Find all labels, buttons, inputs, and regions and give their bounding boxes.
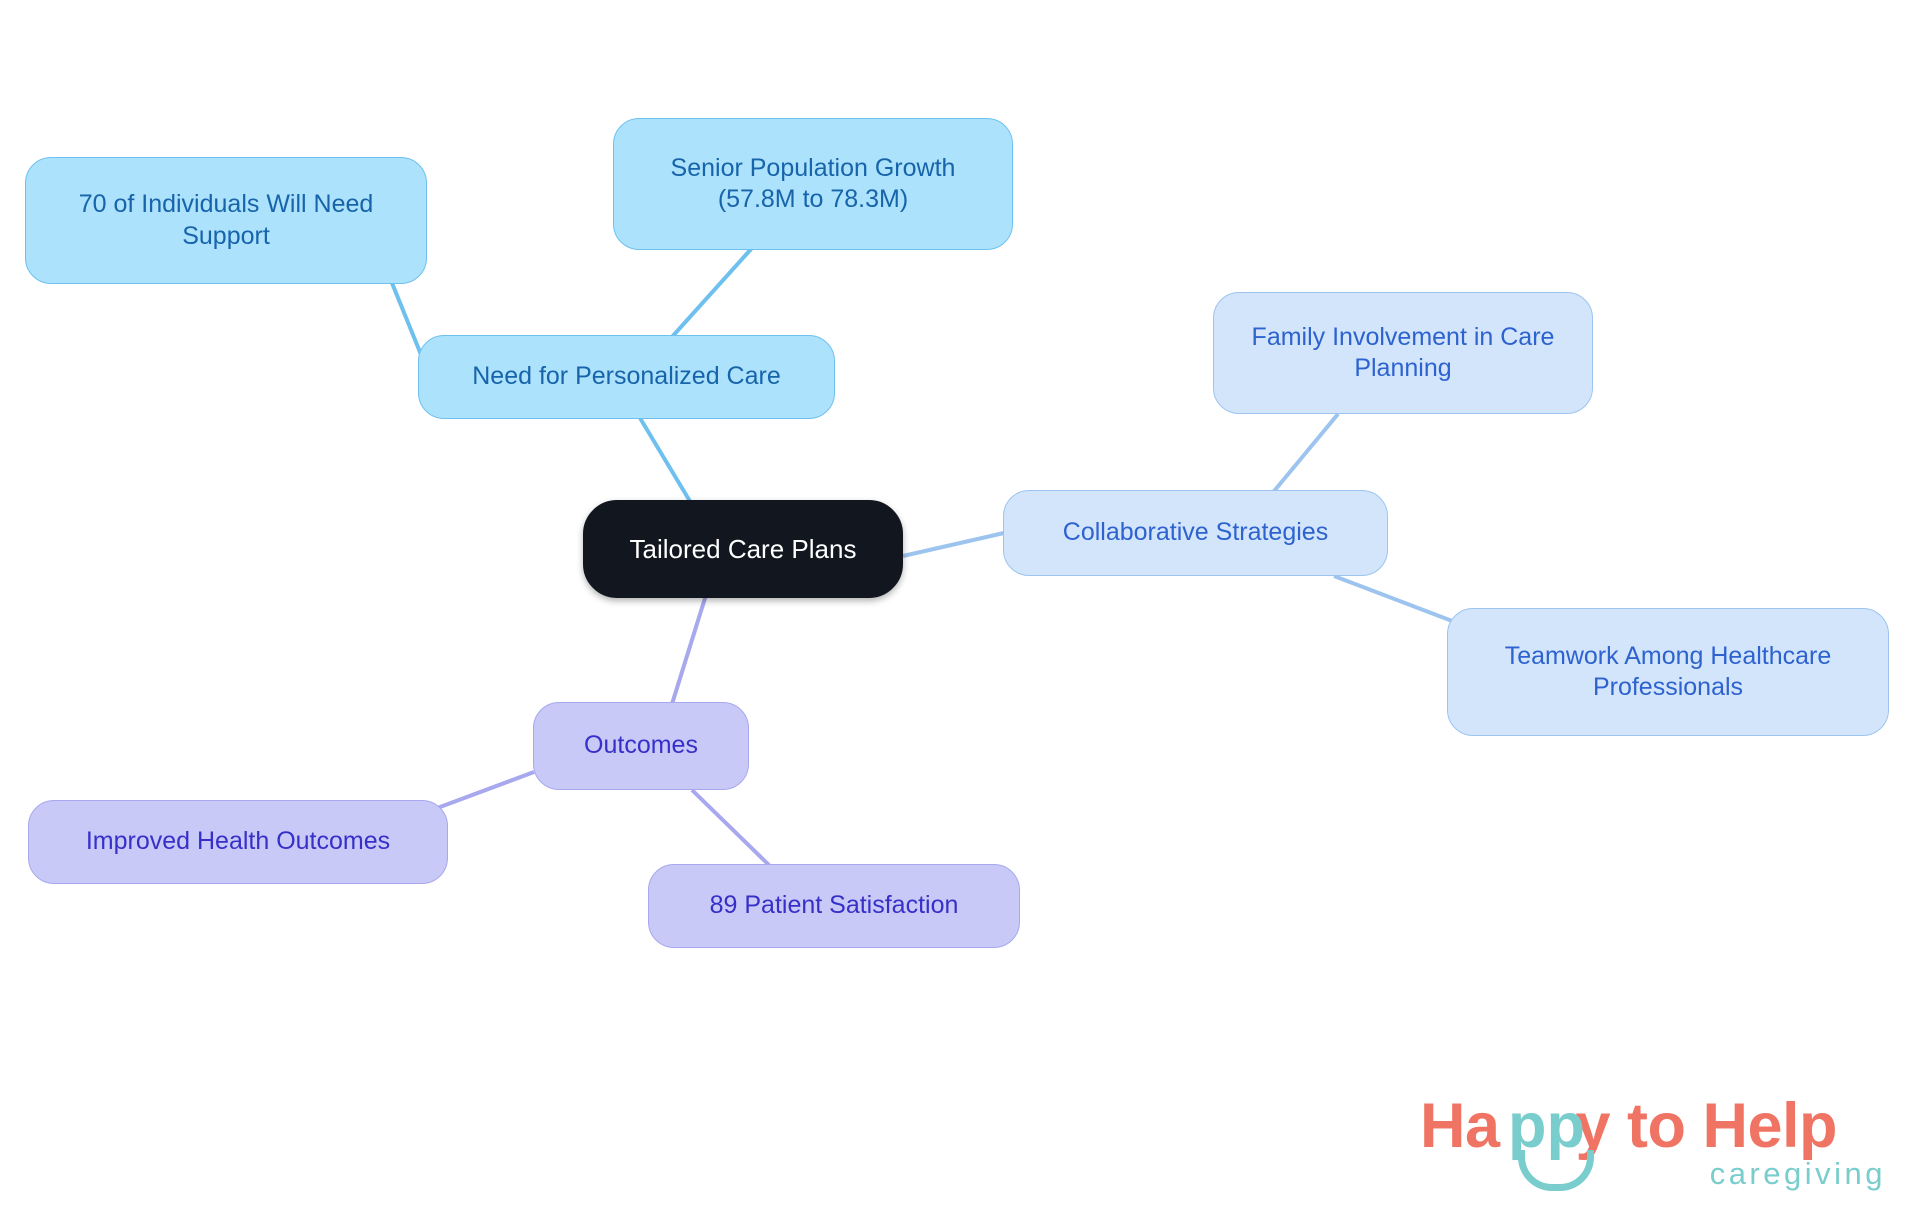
logo-wordmark-ha: Ha <box>1420 1091 1500 1161</box>
smile-icon <box>1518 1150 1594 1191</box>
mindmap-branch-collaborative-strategies[interactable]: Collaborative Strategies <box>1003 490 1388 576</box>
logo-subtitle: caregiving <box>1710 1156 1886 1192</box>
mindmap-leaf-family-involvement-in-care-planning[interactable]: Family Involvement in Care Planning <box>1213 292 1593 414</box>
mindmap-leaf-seventy-percent-support[interactable]: 70 of Individuals Will Need Support <box>25 157 427 284</box>
mindmap-root-node[interactable]: Tailored Care Plans <box>583 500 903 598</box>
edge-outcomes-to-patient-satisfaction <box>692 790 772 868</box>
mindmap-branch-outcomes[interactable]: Outcomes <box>533 702 749 790</box>
brand-logo: Happy to Help pp caregiving <box>1420 1090 1890 1208</box>
edge-root-to-collaborative-strategies <box>903 533 1004 556</box>
mindmap-leaf-patient-satisfaction[interactable]: 89 Patient Satisfaction <box>648 864 1020 948</box>
edge-collaborative-to-family-involvement <box>1270 414 1338 496</box>
mindmap-canvas: Tailored Care Plans Need for Personalize… <box>0 0 1920 1215</box>
edge-root-to-outcomes <box>672 595 706 704</box>
logo-wordmark: Happy to Help <box>1420 1090 1837 1162</box>
mindmap-leaf-improved-health-outcomes[interactable]: Improved Health Outcomes <box>28 800 448 884</box>
mindmap-leaf-senior-population-growth[interactable]: Senior Population Growth (57.8M to 78.3M… <box>613 118 1013 250</box>
edge-collaborative-to-teamwork <box>1334 576 1460 624</box>
logo-wordmark-rest: y to Help <box>1576 1091 1838 1161</box>
edge-need-to-senior-population <box>662 248 752 348</box>
mindmap-leaf-teamwork-among-healthcare-professionals[interactable]: Teamwork Among Healthcare Professionals <box>1447 608 1889 736</box>
edge-outcomes-to-improved-health <box>432 772 534 810</box>
mindmap-branch-need-for-personalized-care[interactable]: Need for Personalized Care <box>418 335 835 419</box>
